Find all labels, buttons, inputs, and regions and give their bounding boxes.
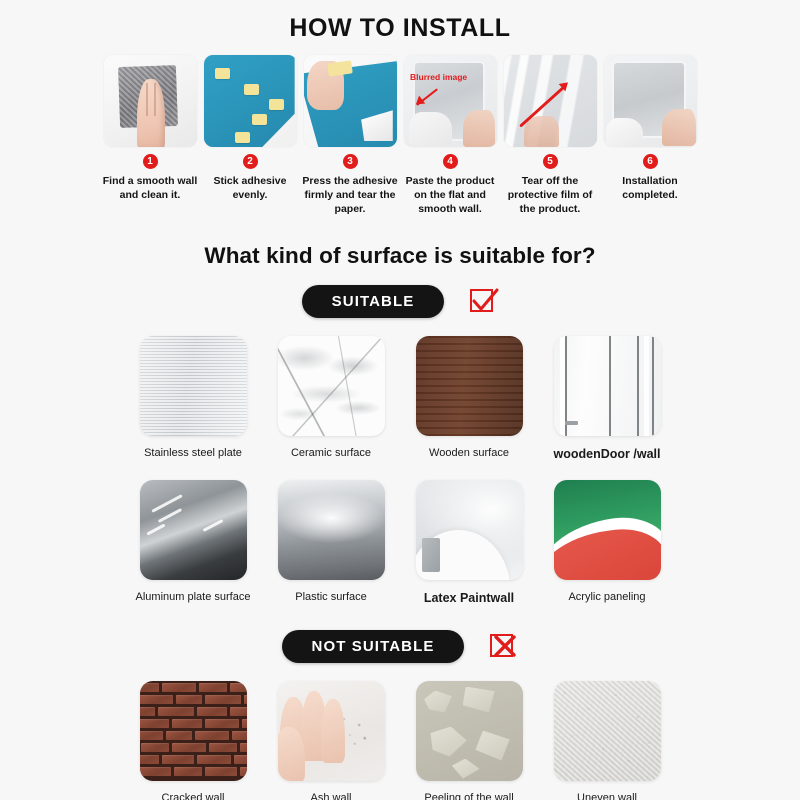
peeling-wall-swatch	[416, 681, 523, 781]
install-step-2: 2 Stick adhesive evenly.	[202, 55, 298, 217]
surface-label: Aluminum plate surface	[136, 591, 251, 604]
suitable-badge-row: SUITABLE	[0, 285, 800, 318]
cross-mark-icon	[490, 632, 518, 660]
surface-label: Wooden surface	[429, 447, 509, 460]
wooden-swatch	[416, 336, 523, 436]
surface-label: Stainless steel plate	[144, 447, 242, 460]
step-1-caption: Find a smooth wall and clean it.	[100, 174, 200, 202]
step-3-caption: Press the adhesive firmly and tear the p…	[300, 174, 400, 217]
check-mark-icon	[470, 287, 498, 315]
step-3-image	[304, 55, 397, 147]
step-5-image	[504, 55, 597, 147]
surface-cell: Uneven wall	[554, 681, 661, 800]
suitable-row-1: Stainless steel plate Ceramic surface Wo…	[0, 336, 800, 462]
step-4-number: 4	[443, 154, 458, 169]
blurred-image-label: Blurred image	[410, 72, 467, 82]
install-step-6: 6 Installation completed.	[602, 55, 698, 217]
step-2-number: 2	[243, 154, 258, 169]
step-5-number: 5	[543, 154, 558, 169]
step-5-caption: Tear off the protective film of the prod…	[500, 174, 600, 217]
red-arrow-icon	[415, 86, 445, 112]
step-1-image	[104, 55, 197, 147]
surface-cell: Acrylic paneling	[554, 480, 661, 606]
ceramic-swatch	[278, 336, 385, 436]
surface-label: Ceramic surface	[291, 447, 371, 460]
step-2-image	[204, 55, 297, 147]
surface-cell: Wooden surface	[416, 336, 523, 462]
step-1-number: 1	[143, 154, 158, 169]
step-6-caption: Installation completed.	[600, 174, 700, 202]
surface-cell: Cracked wall	[140, 681, 247, 800]
surface-label: Cracked wall	[162, 792, 225, 800]
step-4-caption: Paste the product on the flat and smooth…	[400, 174, 500, 217]
surface-label: Ash wall	[311, 792, 352, 800]
install-steps: 1 Find a smooth wall and clean it. 2 Sti…	[0, 55, 800, 217]
surface-cell: woodenDoor /wall	[554, 336, 661, 462]
surface-label: woodenDoor /wall	[554, 447, 661, 462]
suitable-badge: SUITABLE	[302, 285, 445, 318]
stainless-steel-swatch	[140, 336, 247, 436]
surface-cell: Stainless steel plate	[140, 336, 247, 462]
step-6-number: 6	[643, 154, 658, 169]
page-title: HOW TO INSTALL	[0, 0, 800, 43]
step-2-caption: Stick adhesive evenly.	[200, 174, 300, 202]
surface-cell: Ceramic surface	[278, 336, 385, 462]
aluminum-plate-swatch	[140, 480, 247, 580]
step-6-image	[604, 55, 697, 147]
surface-label: Uneven wall	[577, 792, 637, 800]
step-4-image: Blurred image	[404, 55, 497, 147]
surface-label: Latex Paintwall	[424, 591, 514, 606]
ash-wall-swatch	[278, 681, 385, 781]
surface-cell: Ash wall	[278, 681, 385, 800]
surface-cell: Plastic surface	[278, 480, 385, 606]
not-suitable-row-1: Cracked wall Ash wall Peeling of the wal…	[0, 681, 800, 800]
uneven-wall-swatch	[554, 681, 661, 781]
surface-label: Peeling of the wall	[424, 792, 513, 800]
red-arrow-icon	[520, 81, 578, 129]
surface-cell: Aluminum plate surface	[140, 480, 247, 606]
surface-label: Plastic surface	[295, 591, 367, 604]
infographic-page: HOW TO INSTALL 1 Find a smooth wall and …	[0, 0, 800, 800]
step-3-number: 3	[343, 154, 358, 169]
install-step-5: 5 Tear off the protective film of the pr…	[502, 55, 598, 217]
wooden-door-swatch	[554, 336, 661, 436]
suitable-row-2: Aluminum plate surface Plastic surface L…	[0, 480, 800, 606]
not-suitable-badge-row: NOT SUITABLE	[0, 630, 800, 663]
install-step-1: 1 Find a smooth wall and clean it.	[102, 55, 198, 217]
install-step-3: 3 Press the adhesive firmly and tear the…	[302, 55, 398, 217]
surface-cell: Latex Paintwall	[416, 480, 523, 606]
latex-paint-swatch	[416, 480, 523, 580]
acrylic-panel-swatch	[554, 480, 661, 580]
surface-cell: Peeling of the wall	[416, 681, 523, 800]
cracked-brick-swatch	[140, 681, 247, 781]
install-step-4: Blurred image 4 Paste the product on the…	[402, 55, 498, 217]
section-title: What kind of surface is suitable for?	[0, 243, 800, 269]
not-suitable-badge: NOT SUITABLE	[282, 630, 465, 663]
surface-label: Acrylic paneling	[568, 591, 645, 604]
plastic-swatch	[278, 480, 385, 580]
